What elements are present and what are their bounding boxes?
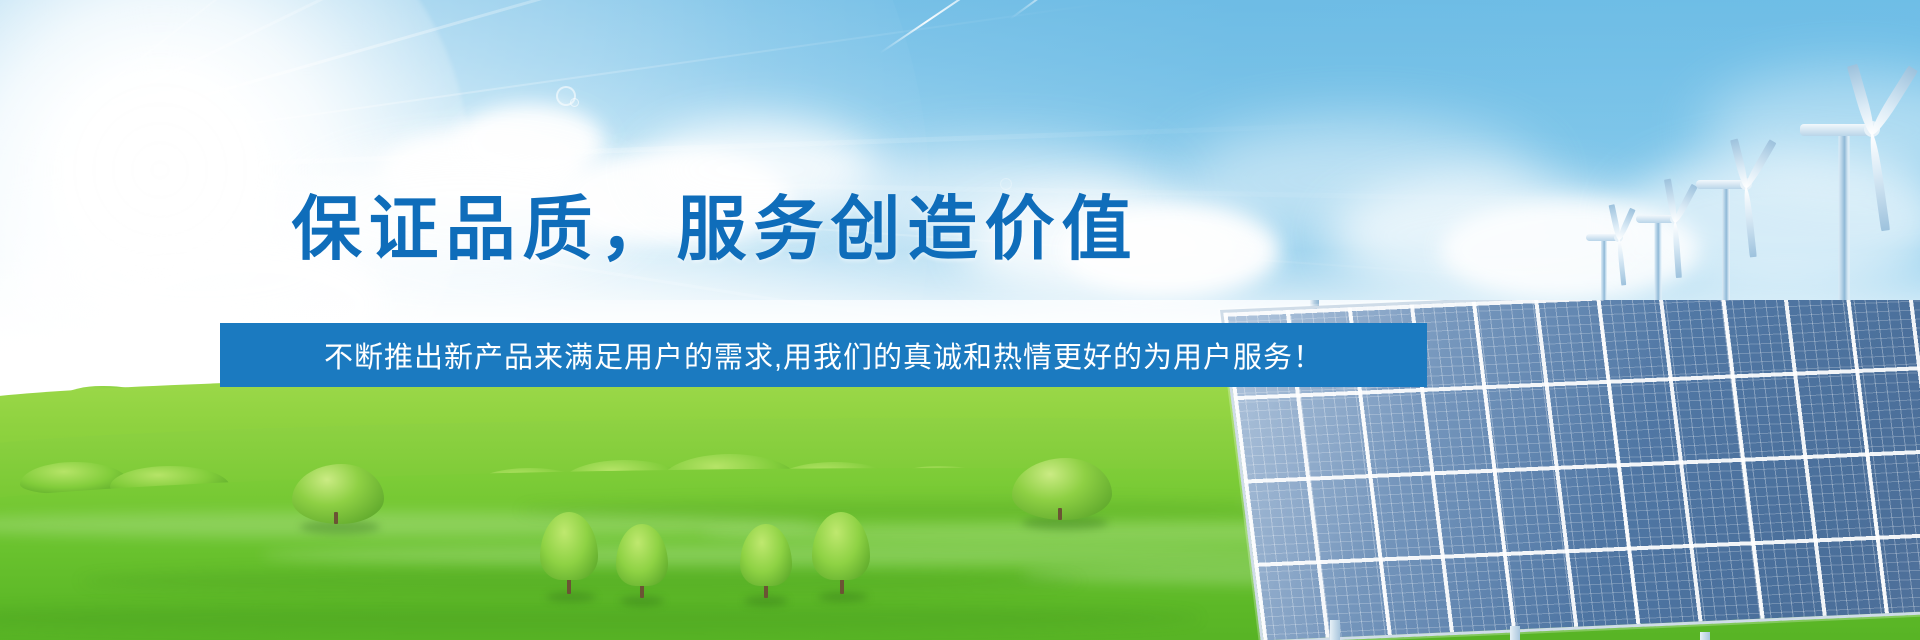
round-tree-2-trunk [1058,508,1062,520]
solar-support-legs [1180,600,1920,640]
banner-headline: 保证品质，服务创造价值 [0,194,1430,264]
lens-flare-dot [570,98,579,107]
round-tree-trunk [334,512,338,524]
banner-subtitle-text: 不断推出新产品来满足用户的需求,用我们的真诚和热情更好的为用户服务！ [324,334,1323,376]
hero-banner: 保证品质，服务创造价值 不断推出新产品来满足用户的需求,用我们的真诚和热情更好的… [0,0,1920,640]
banner-subtitle-bar: 不断推出新产品来满足用户的需求,用我们的真诚和热情更好的为用户服务！ [220,323,1427,387]
